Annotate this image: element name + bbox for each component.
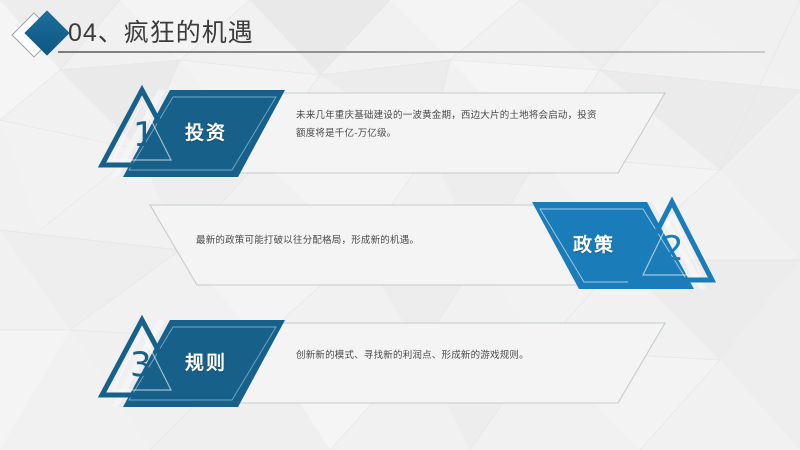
row-2-body-text: 最新的政策可能打破以往分配格局，形成新的机遇。: [196, 232, 516, 250]
content-row-3[interactable]: 3 规则 创新新的模式、寻找新的利润点、形成新的游戏规则。: [0, 315, 800, 415]
row-3-body-text: 创新新的模式、寻找新的利润点、形成新的游戏规则。: [296, 347, 616, 365]
row-1-body-text: 未来几年重庆基础建设的一波黄金期，西边大片的土地将会启动，投资额度将是千亿-万亿…: [296, 107, 601, 142]
content-row-2[interactable]: 2 政策 最新的政策可能打破以往分配格局，形成新的机遇。: [0, 197, 800, 297]
row-1-number: 1: [133, 115, 155, 155]
slide-header: 04、疯狂的机遇: [0, 0, 800, 70]
row-1-tag-label: 投资: [185, 118, 227, 145]
slide-canvas: 04、疯狂的机遇 1 投资 未来几年重庆基础建设的一波黄金期，西边大片的土地将会…: [0, 0, 800, 450]
page-title: 04、疯狂的机遇: [68, 13, 254, 49]
row-3-tag-label: 规则: [185, 348, 227, 375]
row-2-number: 2: [662, 229, 684, 269]
row-3-number: 3: [130, 345, 152, 385]
title-underline: [58, 51, 765, 53]
content-row-1[interactable]: 1 投资 未来几年重庆基础建设的一波黄金期，西边大片的土地将会启动，投资额度将是…: [0, 85, 800, 185]
row-2-tag-label: 政策: [573, 230, 615, 257]
